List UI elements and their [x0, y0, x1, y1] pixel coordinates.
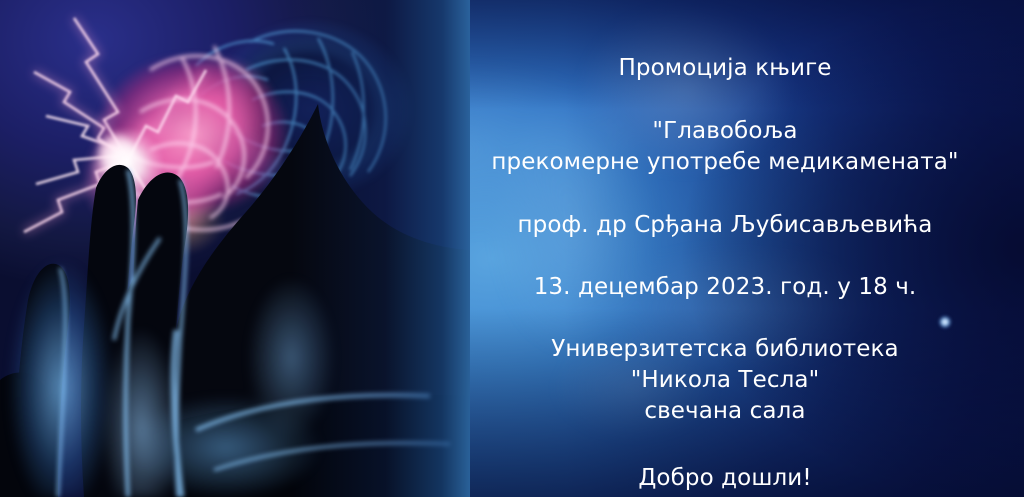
book-title-line-1: "Главобоља — [455, 116, 995, 147]
venue-line-1: Универзитетска библиотека — [455, 334, 995, 365]
event-label: Промоција књиге — [455, 53, 995, 84]
venue-group: Универзитетска библиотека "Никола Тесла"… — [455, 303, 995, 427]
venue-line-2: "Никола Тесла" — [455, 365, 995, 396]
event-datetime: 13. децембар 2023. год. у 18 ч. — [455, 272, 995, 303]
book-title-line-2: прекомерне употребе медикамената" — [455, 147, 995, 178]
event-label-group: Промоција књиге — [455, 0, 995, 84]
book-promotion-poster: Промоција књиге "Главобоља прекомерне уп… — [0, 0, 1024, 497]
datetime-group: 13. децембар 2023. год. у 18 ч. — [455, 241, 995, 303]
book-title-group: "Главобоља прекомерне употребе медикамен… — [455, 84, 995, 178]
welcome-message: Добро дошли! — [455, 463, 995, 494]
illustration-edge-fade — [0, 0, 470, 497]
author-group: проф. др Срђана Љубисављевића — [455, 178, 995, 241]
brain-headache-illustration — [0, 0, 470, 497]
welcome-group: Добро дошли! — [455, 427, 995, 494]
author-name: проф. др Срђана Љубисављевића — [455, 210, 995, 241]
venue-line-3: свечана сала — [455, 396, 995, 427]
poster-text-block: Промоција књиге "Главобоља прекомерне уп… — [455, 0, 995, 497]
